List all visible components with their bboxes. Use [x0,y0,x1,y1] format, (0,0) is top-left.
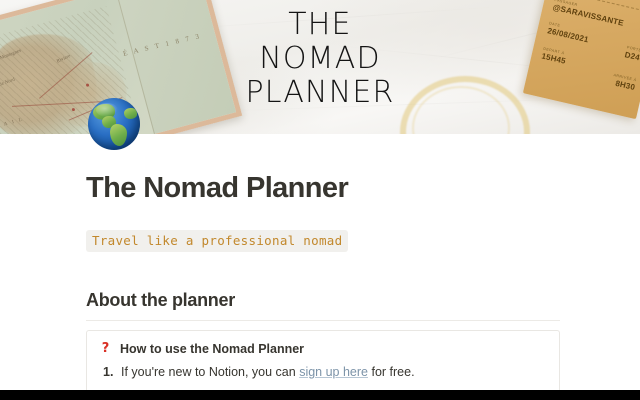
globe-americas-icon[interactable] [88,98,140,150]
globe-landmass [110,124,127,146]
divider [86,320,560,321]
callout-title: How to use the Nomad Planner [120,341,304,357]
list-item-text-suffix: for free. [368,365,415,379]
sign-up-link[interactable]: sign up here [299,365,368,379]
cover-title: THE NOMAD PLANNER [200,8,440,110]
boarding-pass-field-arrival: ARRIVÉE À 8H30 [611,73,637,92]
viewport-bottom-bar [0,390,640,400]
globe-landmass [124,108,137,119]
list-item: If you're new to Notion, you can sign up… [121,363,547,382]
section-heading-about[interactable]: About the planner [86,290,235,311]
callout-header: ? How to use the Nomad Planner [99,341,547,357]
notion-page: Montagnes Baie Nord Riviere T R A I L É … [0,0,640,400]
callout-numbered-list: If you're new to Notion, you can sign up… [99,363,547,382]
boarding-pass-field-date: DATE 26/08/2021 [547,21,591,44]
boarding-pass-graphic: CDG PARIS CDG ✈ PASSAGER @SARAVISSANTE D… [523,0,640,119]
tagline-code-text[interactable]: Travel like a professional nomad [86,230,348,252]
question-mark-emoji-icon[interactable]: ? [99,341,112,357]
tagline-block: Travel like a professional nomad [86,230,348,252]
page-title[interactable]: The Nomad Planner [86,172,348,205]
field-value: D24 [624,50,640,62]
list-item-text-prefix: If you're new to Notion, you can [121,365,299,379]
globe-highlight [96,103,118,117]
boarding-pass-field-departure: DEPART À 15H45 [541,47,568,66]
boarding-pass-field-gate: PORTE D24 [624,45,640,62]
